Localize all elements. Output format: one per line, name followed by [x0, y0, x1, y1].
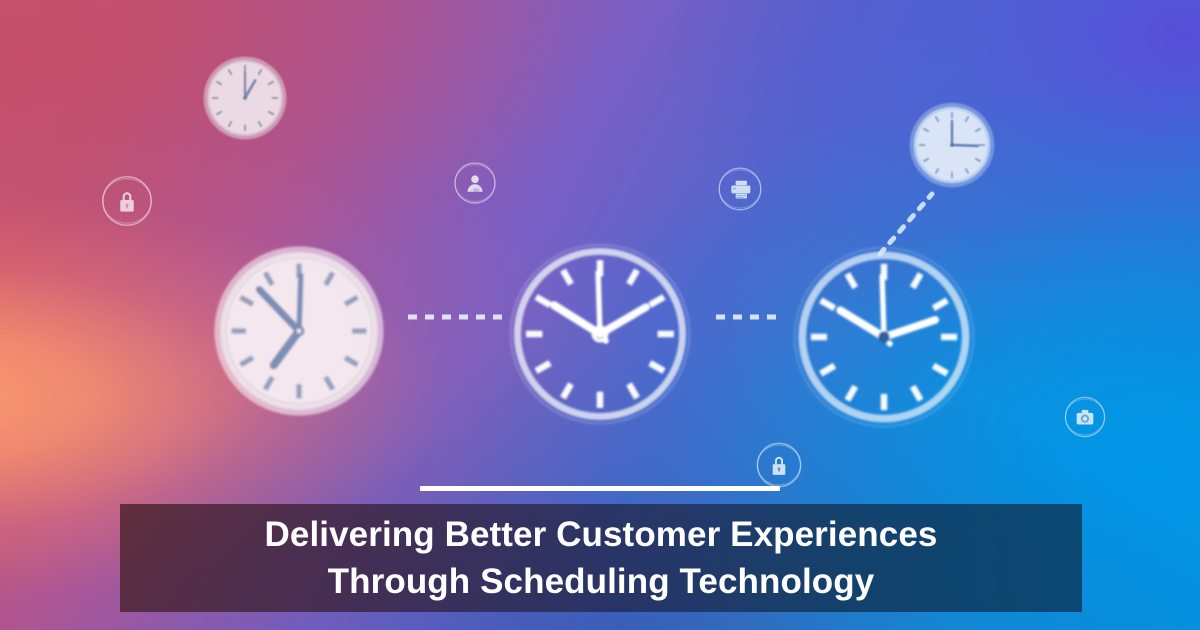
camera-icon [1060, 392, 1110, 442]
title-line-1: Delivering Better Customer Experiences [265, 511, 938, 558]
lock-icon [98, 172, 156, 230]
lock-icon [752, 438, 806, 492]
clock-large-right [789, 242, 979, 432]
clock-small-top-right [906, 99, 998, 191]
clock-small-top-left [199, 52, 291, 144]
printer-icon [714, 163, 766, 215]
title-line-2: Through Scheduling Technology [328, 558, 875, 605]
clock-large-left [209, 241, 389, 421]
user-icon [450, 158, 500, 208]
dash-center-to-right [714, 312, 782, 322]
title-divider-rule [420, 486, 780, 491]
title-band: Delivering Better Customer Experiences T… [120, 504, 1082, 612]
poster-canvas: Delivering Better Customer Experiences T… [0, 0, 1200, 630]
dash-left-to-center [406, 312, 506, 322]
clock-large-center [504, 238, 696, 430]
